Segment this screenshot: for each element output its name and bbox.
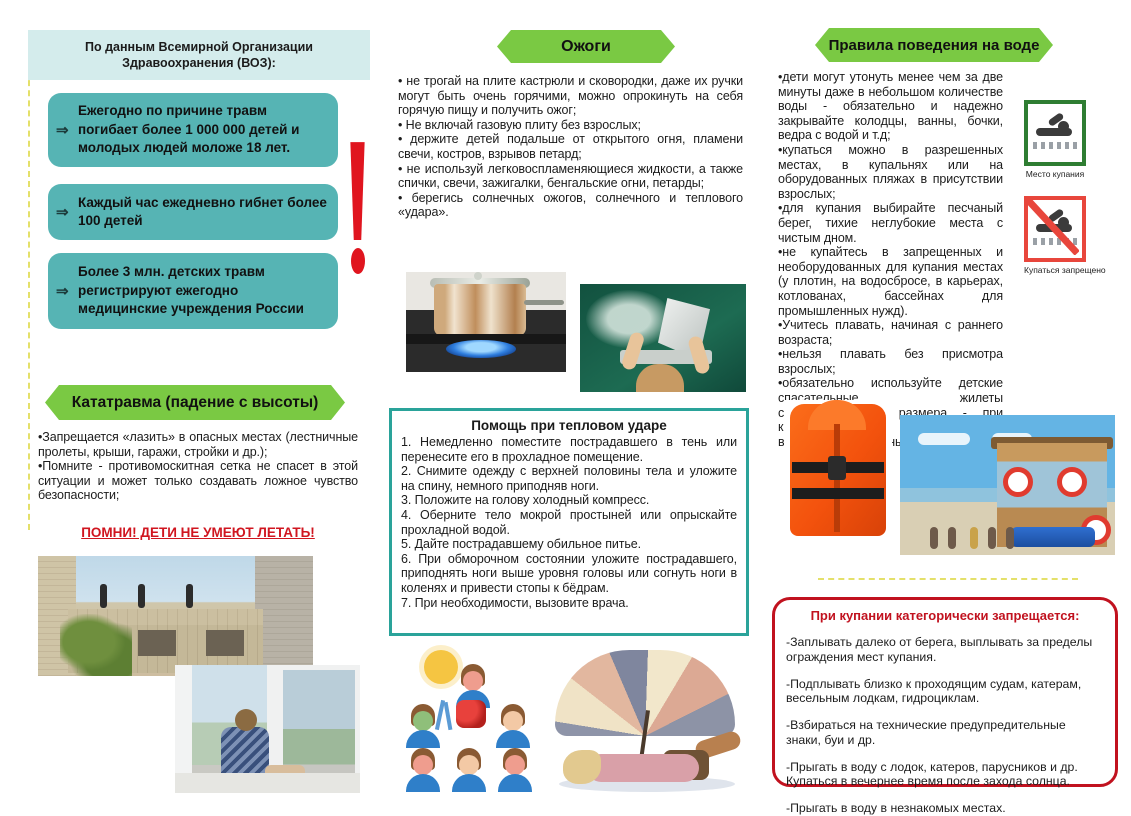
who-fact-2: ⇒ Каждый час ежедневно гибнет более 100 … [48, 184, 338, 240]
heatstroke-help-box: Помощь при тепловом ударе 1. Немедленно … [389, 408, 749, 636]
heatstroke-step-1: 1. Немедленно поместите пострадавшего в … [401, 435, 737, 464]
beach-umbrella-illustration [545, 650, 745, 795]
burns-bullet-4: • не используй легковоспламеняющиеся жид… [398, 162, 743, 191]
who-fact-1: ⇒ Ежегодно по причине травм погибает бол… [48, 93, 338, 167]
arrow-icon: ⇒ [56, 282, 78, 301]
heatstroke-steps: 1. Немедленно поместите пострадавшего в … [401, 435, 737, 610]
heatstroke-title: Помощь при тепловом ударе [401, 418, 737, 433]
heatstroke-symptoms-illustration [400, 648, 540, 788]
heatstroke-step-3: 3. Положите на голову холодный компресс. [401, 493, 737, 508]
dashed-guide-horizontal-right [818, 578, 1078, 580]
katatravma-bullet-2: •Помните - противомоскитная сетка не спа… [38, 459, 358, 503]
arrow-icon: ⇒ [56, 203, 78, 222]
katatravma-banner: Кататравма (падение с высоты) [45, 385, 345, 420]
swimming-allowed-sign: Место купания [1024, 100, 1086, 179]
who-header: По данным Всемирной Организации Здравоох… [28, 30, 370, 80]
dashed-guide-vertical-left [28, 60, 30, 530]
heatstroke-step-5: 5. Дайте пострадавшему обильное питье. [401, 537, 737, 552]
heatstroke-step-6: 6. При обморочном состоянии уложите пост… [401, 552, 737, 596]
water-rules-banner: Правила поведения на воде [815, 28, 1053, 62]
katatravma-bullet-1: •Запрещается «лазить» в опасных местах (… [38, 430, 358, 459]
no-swimming-sign: Купаться запрещено [1024, 196, 1106, 275]
water-bullet-6: •нельзя плавать без присмотра взрослых; [778, 347, 1003, 376]
burns-text: • не трогай на плите кастрюли и сковород… [398, 74, 743, 220]
water-rules-text: •дети могут утонуть менее чем за две мин… [778, 70, 1003, 449]
prohibition-item-3: -Взбираться на технические предупредител… [786, 718, 1104, 747]
who-fact-1-text: Ежегодно по причине травм погибает более… [78, 102, 328, 158]
prohibitions-list: -Заплывать далеко от берега, выплывать з… [786, 635, 1104, 816]
exclamation-mark-icon [341, 138, 375, 278]
burns-bullet-3: • держите детей подальше от открытого ог… [398, 132, 743, 161]
arrow-icon: ⇒ [56, 121, 78, 140]
who-fact-3: ⇒ Более 3 млн. детских травм регистрирую… [48, 253, 338, 329]
remember-warning: ПОМНИ! ДЕТИ НЕ УМЕЮТ ЛЕТАТЬ! [38, 525, 358, 540]
prohibition-item-2: -Подплывать близко к проходящим судам, к… [786, 677, 1104, 706]
heatstroke-step-2: 2. Снимите одежду с верхней половины тел… [401, 464, 737, 493]
no-swimming-caption: Купаться запрещено [1024, 265, 1106, 275]
slash-icon [1025, 197, 1079, 255]
burns-bullet-1: • не трогай на плите кастрюли и сковород… [398, 74, 743, 118]
water-bullet-4: •не купайтесь в запрещенных и необорудов… [778, 245, 1003, 318]
burns-banner: Ожоги [497, 30, 675, 63]
burns-bullet-2: • Не включай газовую плиту без взрослых; [398, 118, 743, 133]
prohibition-item-4: -Прыгать в воду с лодок, катеров, парусн… [786, 760, 1104, 789]
prohibition-item-1: -Заплывать далеко от берега, выплывать з… [786, 635, 1104, 664]
beach-lifeguard-photo [900, 415, 1115, 555]
safety-poster: По данным Всемирной Организации Здравоох… [0, 0, 1131, 800]
hot-iron-photo [580, 284, 746, 392]
pot-on-stove-photo [406, 272, 566, 372]
child-at-window-photo [175, 665, 360, 793]
heatstroke-step-7: 7. При необходимости, вызовите врача. [401, 596, 737, 611]
roof-danger-photo [38, 556, 313, 676]
heart-icon [456, 700, 486, 728]
water-bullet-5: •Учитесь плавать, начиная с раннего возр… [778, 318, 1003, 347]
heatstroke-step-4: 4. Оберните тело мокрой простыней или оп… [401, 508, 737, 537]
water-bullet-3: •для купания выбирайте песчаный берег, т… [778, 201, 1003, 245]
who-fact-3-text: Более 3 млн. детских травм регистрируют … [78, 263, 328, 319]
swimming-allowed-caption: Место купания [1024, 169, 1086, 179]
life-jacket-photo [784, 400, 892, 550]
who-fact-2-text: Каждый час ежедневно гибнет более 100 де… [78, 194, 328, 231]
swimmer-icon [1028, 104, 1082, 162]
sun-icon [424, 650, 458, 684]
swimming-prohibitions-box: При купании категорически запрещается: -… [772, 597, 1118, 787]
prohibitions-title: При купании категорически запрещается: [786, 608, 1104, 623]
katatravma-text: •Запрещается «лазить» в опасных местах (… [38, 430, 358, 503]
water-bullet-1: •дети могут утонуть менее чем за две мин… [778, 70, 1003, 143]
prohibition-item-5: -Прыгать в воду в незнакомых местах. [786, 801, 1104, 816]
burns-bullet-5: • берегись солнечных ожогов, солнечного … [398, 191, 743, 220]
water-bullet-2: •купаться можно в разрешенных местах, в … [778, 143, 1003, 201]
